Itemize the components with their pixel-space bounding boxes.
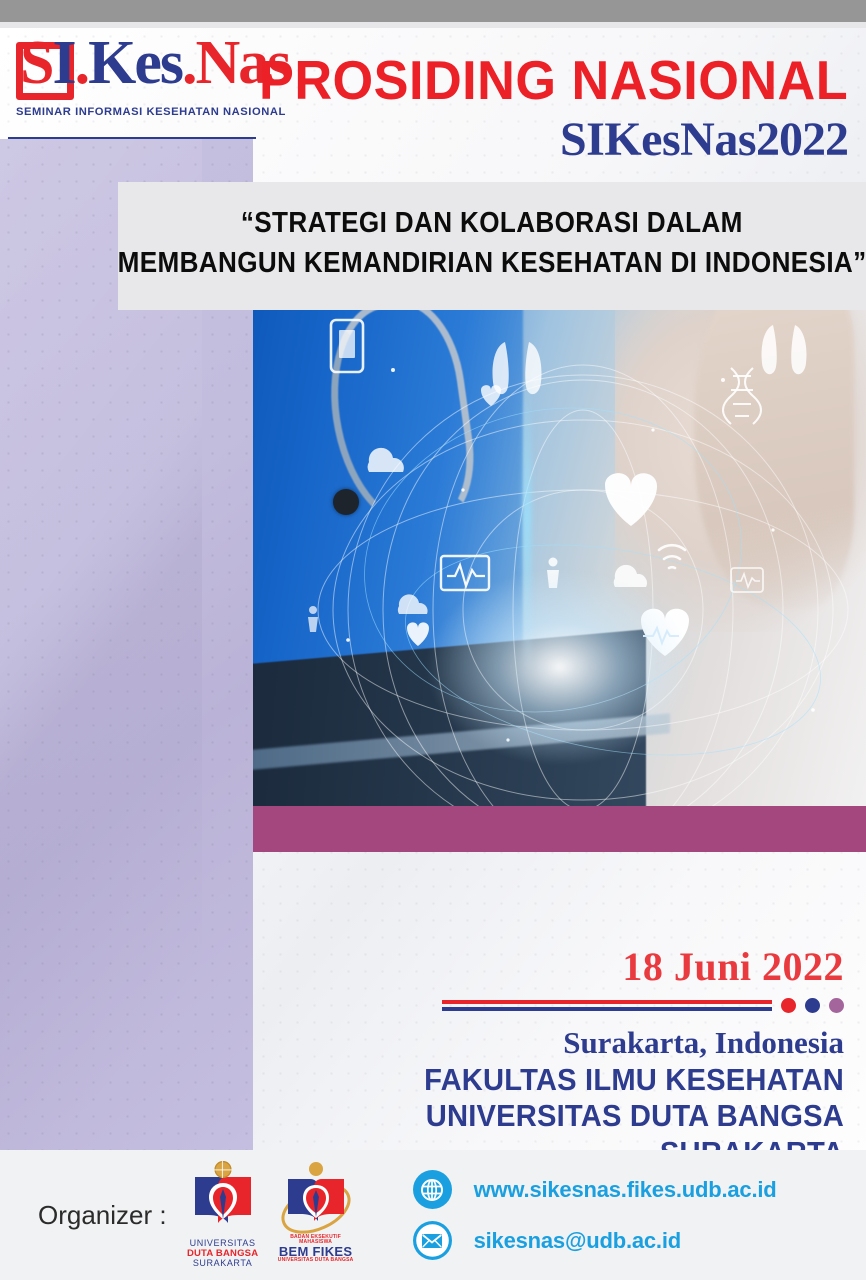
dna-icon bbox=[723, 368, 761, 424]
bem-logo-text: BADAN EKSEKUTIF MAHASISWA BEM FIKES UNIV… bbox=[277, 1235, 355, 1263]
globe-icon bbox=[413, 1170, 452, 1209]
theme-banner: “STRATEGI DAN KOLABORASI DALAM MEMBANGUN… bbox=[118, 182, 866, 310]
organizer-label: Organizer : bbox=[38, 1200, 167, 1231]
lungs-icon bbox=[493, 342, 542, 394]
theme-line-1: “STRATEGI DAN KOLABORASI DALAM bbox=[241, 203, 743, 243]
heart-icon bbox=[605, 473, 657, 526]
central-glow bbox=[425, 568, 695, 766]
udb-text-line3: SURAKARTA bbox=[181, 1259, 265, 1269]
accent-dot-red bbox=[781, 998, 796, 1013]
logo-letter-i: I bbox=[52, 29, 74, 97]
udb-logo-text: UNIVERSITAS DUTA BANGSA SURAKARTA bbox=[181, 1239, 265, 1269]
logo-dot-1: . bbox=[75, 29, 89, 97]
event-details-block: 18 Juni 2022 Surakarta, Indonesia FAKULT… bbox=[284, 946, 844, 1171]
logo-dot-2: . bbox=[182, 29, 196, 97]
event-date: 18 Juni 2022 bbox=[284, 946, 844, 988]
cloud-icon bbox=[368, 448, 404, 472]
logo-letters-kes: Kes bbox=[88, 29, 182, 97]
headline-prosiding-nasional: PROSIDING NASIONAL bbox=[259, 52, 848, 108]
theme-line-2: MEMBANGUN KEMANDIRIAN KESEHATAN DI INDON… bbox=[118, 243, 866, 283]
divider-blue-line bbox=[442, 1007, 772, 1011]
universitas-duta-bangsa-logo: UNIVERSITAS DUTA BANGSA SURAKARTA bbox=[181, 1161, 265, 1269]
headline-event-year: 2022 bbox=[756, 113, 848, 166]
logo-underline bbox=[8, 137, 256, 139]
accent-dot-purple bbox=[829, 998, 844, 1013]
contact-website-row[interactable]: www.sikesnas.fikes.udb.ac.id bbox=[413, 1170, 777, 1209]
magenta-accent-band bbox=[253, 806, 866, 852]
venue-city: Surakarta, Indonesia bbox=[284, 1025, 844, 1062]
hero-medical-technology-image bbox=[253, 310, 866, 806]
viewer-top-bar bbox=[0, 0, 866, 22]
headline-event-name: SIKesNas bbox=[560, 113, 756, 166]
bem-text-line3: UNIVERSITAS DUTA BANGSA bbox=[277, 1258, 355, 1263]
organizer-block: Organizer : UNIVERSITAS bbox=[0, 1161, 355, 1269]
sikesnas-logo: SI.Kes.Nas SEMINAR INFORMASI KESEHATAN N… bbox=[8, 36, 256, 136]
udb-logo-mark bbox=[181, 1161, 265, 1233]
envelope-icon bbox=[413, 1221, 452, 1260]
email-address[interactable]: sikesnas@udb.ac.id bbox=[474, 1228, 681, 1254]
logo-mark: SI.Kes.Nas bbox=[8, 36, 256, 108]
cloud-icon-3 bbox=[398, 594, 428, 614]
person-icon-2 bbox=[308, 606, 318, 632]
venue-faculty: FAKULTAS ILMU KESEHATAN bbox=[318, 1062, 844, 1099]
globe-icon bbox=[214, 1161, 231, 1178]
footer-bar: Organizer : UNIVERSITAS bbox=[0, 1150, 866, 1280]
small-heart-icon-2 bbox=[481, 385, 501, 406]
contact-block: www.sikesnas.fikes.udb.ac.id sikesnas@ud… bbox=[413, 1170, 777, 1260]
lungs-icon-2 bbox=[761, 325, 806, 374]
divider-rules bbox=[442, 1000, 772, 1011]
accent-dot-blue bbox=[805, 998, 820, 1013]
website-url[interactable]: www.sikesnas.fikes.udb.ac.id bbox=[474, 1177, 777, 1203]
contact-email-row[interactable]: sikesnas@udb.ac.id bbox=[413, 1221, 777, 1260]
smartphone-icon bbox=[331, 320, 363, 372]
headline-block: PROSIDING NASIONAL SIKesNas2022 bbox=[228, 52, 848, 167]
divider-with-dots bbox=[284, 998, 844, 1013]
poster-root: SI.Kes.Nas SEMINAR INFORMASI KESEHATAN N… bbox=[0, 0, 866, 1280]
logo-letter-s: S bbox=[20, 29, 52, 97]
organizer-logos: UNIVERSITAS DUTA BANGSA SURAKARTA bbox=[181, 1161, 355, 1269]
bem-fikes-logo: BADAN EKSEKUTIF MAHASISWA BEM FIKES UNIV… bbox=[277, 1161, 355, 1265]
ecg-monitor-icon-2 bbox=[731, 568, 763, 592]
wifi-icon bbox=[659, 545, 685, 568]
bem-fikes-emblem bbox=[277, 1161, 355, 1243]
headline-sikesnas-2022: SIKesNas2022 bbox=[228, 114, 848, 167]
divider-red-line bbox=[442, 1000, 772, 1004]
